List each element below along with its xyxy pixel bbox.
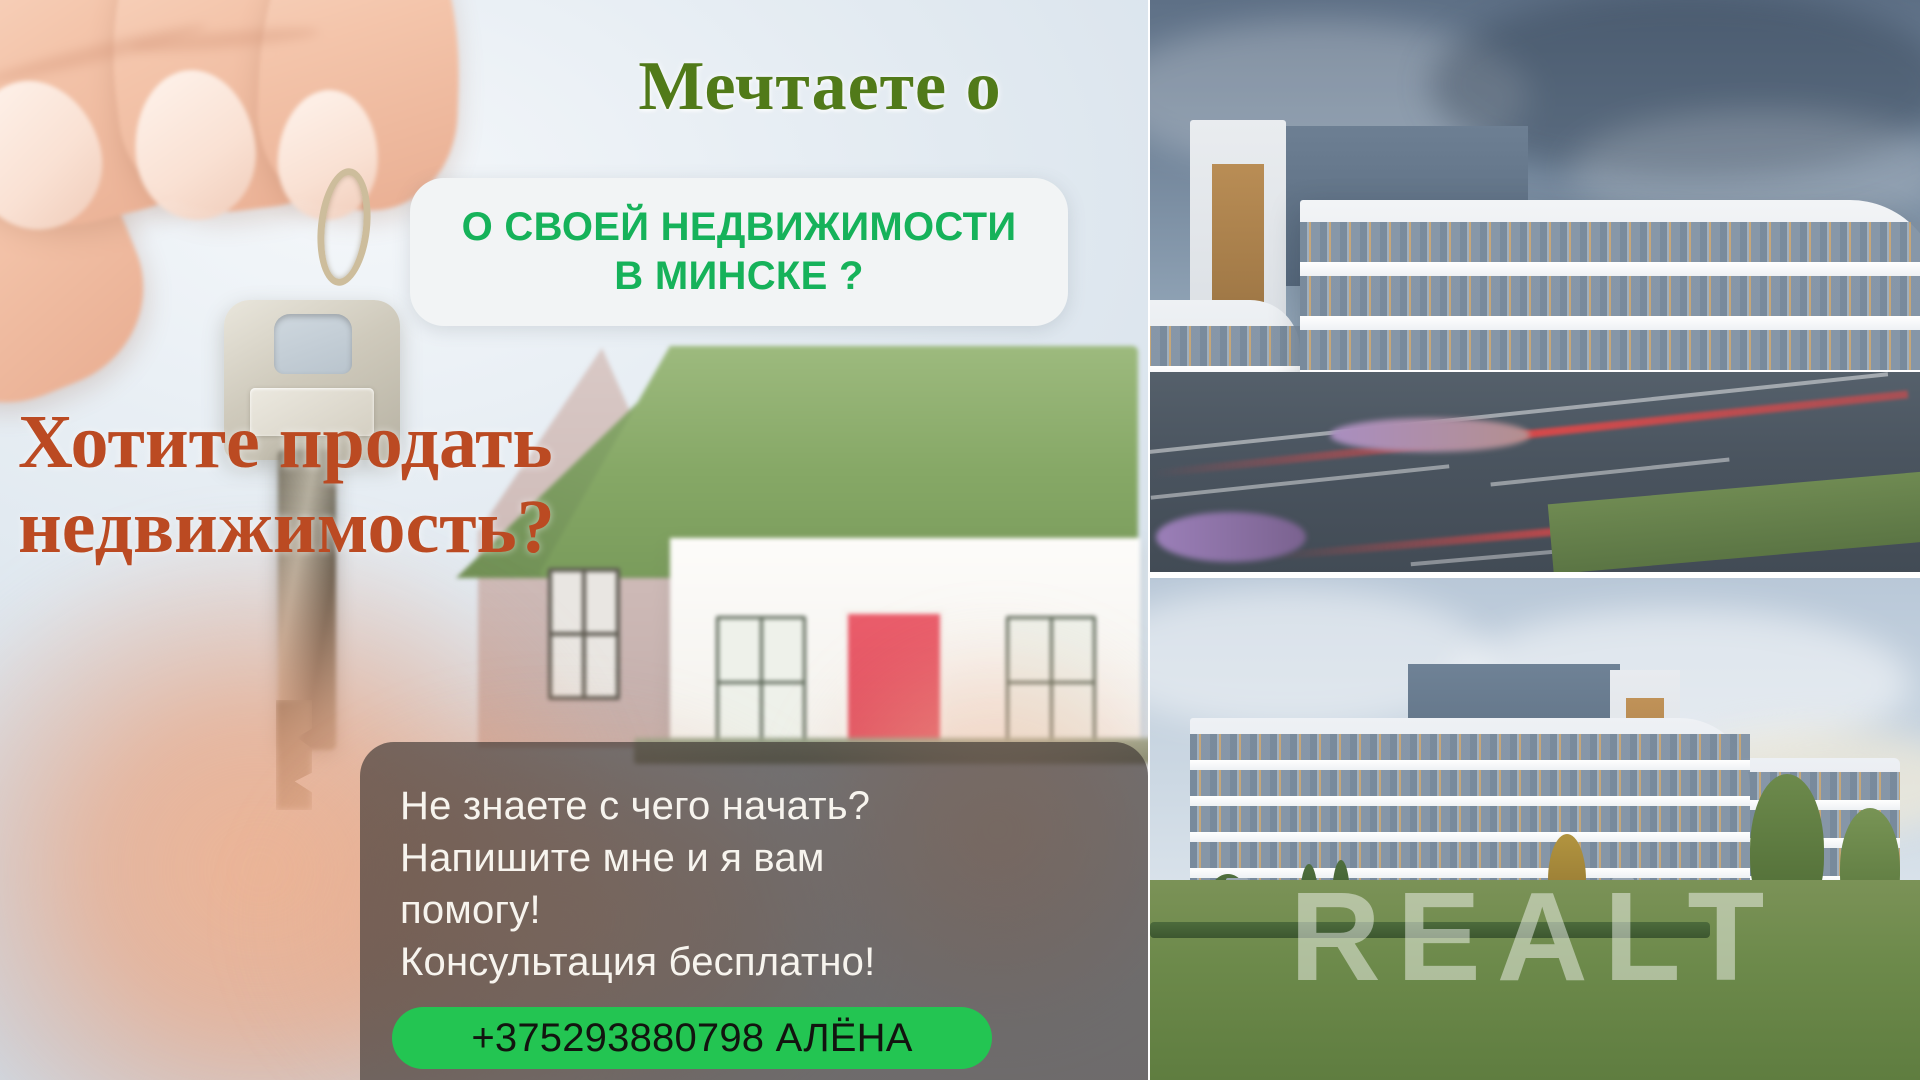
left-promo-panel: Мечтаете о О СВОЕЙ НЕДВИЖИМОСТИ В МИНСКЕ… [0, 0, 1148, 1080]
info-line-3: помогу! [400, 884, 1148, 936]
lavender-bed [1156, 512, 1306, 562]
info-line-4: Консультация бесплатно! [400, 936, 1148, 988]
building-photo-bottom: REALT [1150, 578, 1920, 1080]
headline-sell-line-1: Хотите продать [18, 400, 553, 484]
phone-cta-label: +375293880798 АЛЁНА [471, 1016, 912, 1061]
info-line-1: Не знаете с чего начать? [400, 780, 1148, 832]
lavender-bed [1330, 418, 1530, 452]
advertisement-banner: Мечтаете о О СВОЕЙ НЕДВИЖИМОСТИ В МИНСКЕ… [0, 0, 1920, 1080]
headline-dream: Мечтаете о [560, 52, 1080, 122]
realt-watermark: REALT [1290, 864, 1781, 1009]
bubble-line-2: В МИНСКЕ ? [614, 252, 863, 301]
building-photo-top [1150, 0, 1920, 572]
question-bubble: О СВОЕЙ НЕДВИЖИМОСТИ В МИНСКЕ ? [410, 178, 1068, 326]
phone-cta-button[interactable]: +375293880798 АЛЁНА [392, 1007, 992, 1069]
right-photo-column: REALT [1150, 0, 1920, 1080]
key-bow-hole [274, 314, 352, 374]
bubble-line-1: О СВОЕЙ НЕДВИЖИМОСТИ [462, 203, 1017, 252]
headline-sell: Хотите продать недвижимость? [18, 400, 738, 570]
headline-sell-line-2: недвижимость? [18, 485, 738, 570]
info-line-2: Напишите мне и я вам [400, 832, 1148, 884]
